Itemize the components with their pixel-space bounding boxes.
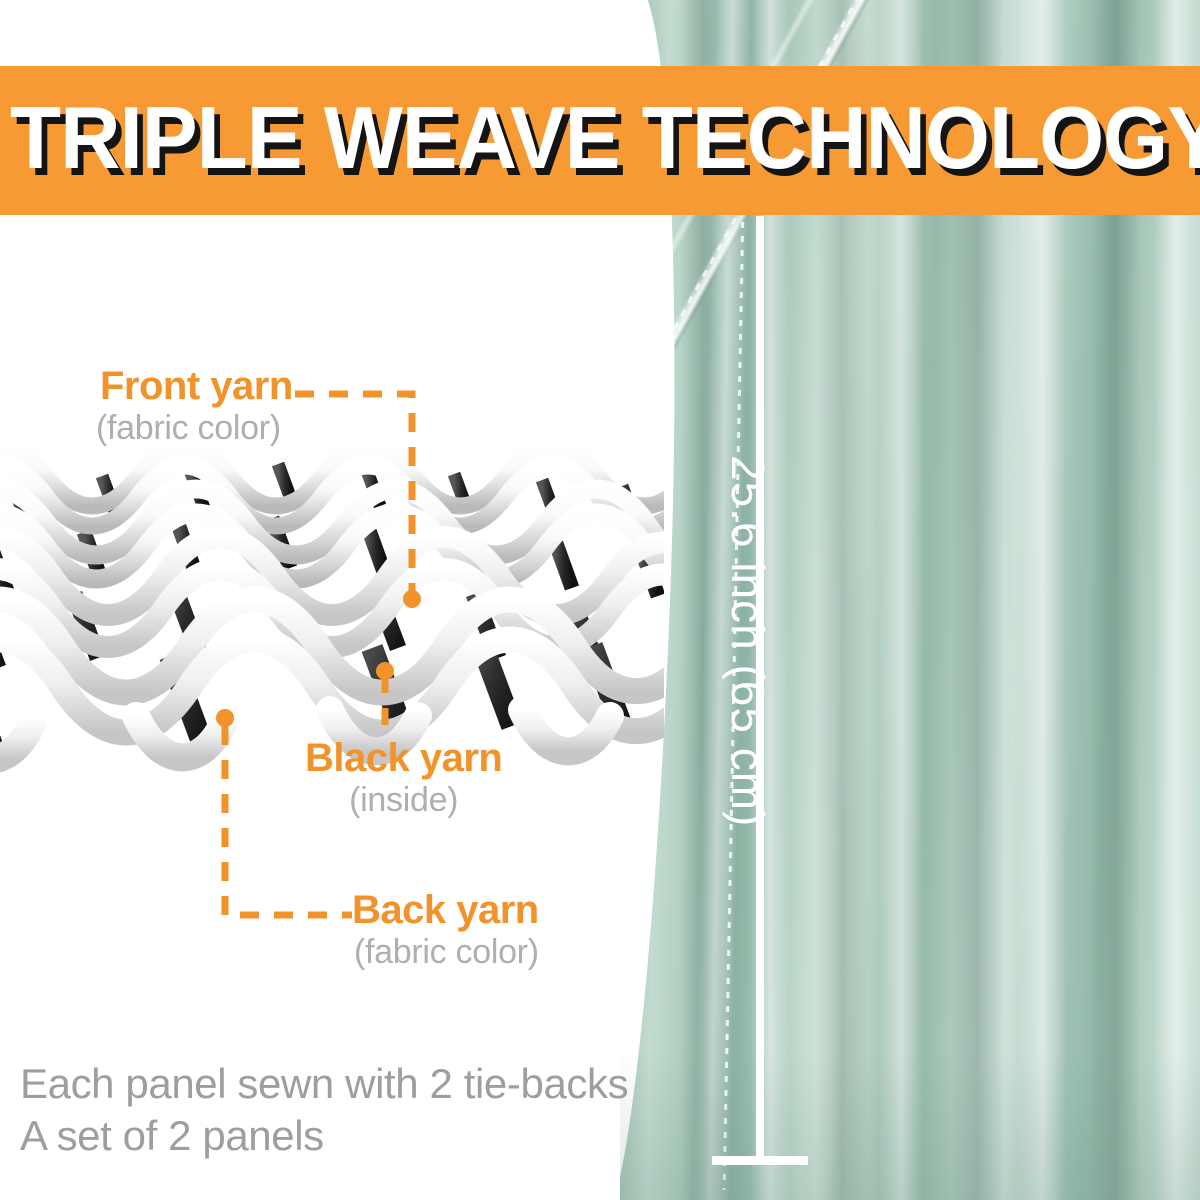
callout-back-yarn-title: Back yarn [352,888,539,932]
infographic-canvas: TRIPLE WEAVE TECHNOLOGY Front yarn (fabr… [0,0,1200,1200]
page-title: TRIPLE WEAVE TECHNOLOGY [10,88,1136,188]
callout-black-yarn-subtitle: (inside) [305,780,502,820]
footer-note-tiebacks: Each panel sewn with 2 tie-backs [20,1058,640,1110]
measurement-end-cap [712,1156,808,1165]
footer-note-panels: A set of 2 panels [20,1110,640,1162]
callout-front-yarn-subtitle: (fabric color) [96,408,293,448]
callout-back-yarn: Back yarn (fabric color) [352,888,539,972]
callout-black-yarn: Black yarn (inside) [305,736,502,820]
title-banner: TRIPLE WEAVE TECHNOLOGY [0,66,1200,215]
callout-back-yarn-subtitle: (fabric color) [352,932,539,972]
callout-black-yarn-title: Black yarn [305,736,502,780]
measurement-label: 25.6 inch (65 cm) [721,455,775,827]
callout-front-yarn-title: Front yarn [100,364,293,408]
curtain-bottom-shading [620,1050,1200,1200]
footer-notes: Each panel sewn with 2 tie-backs A set o… [20,1058,640,1162]
callout-front-yarn: Front yarn (fabric color) [100,364,293,448]
